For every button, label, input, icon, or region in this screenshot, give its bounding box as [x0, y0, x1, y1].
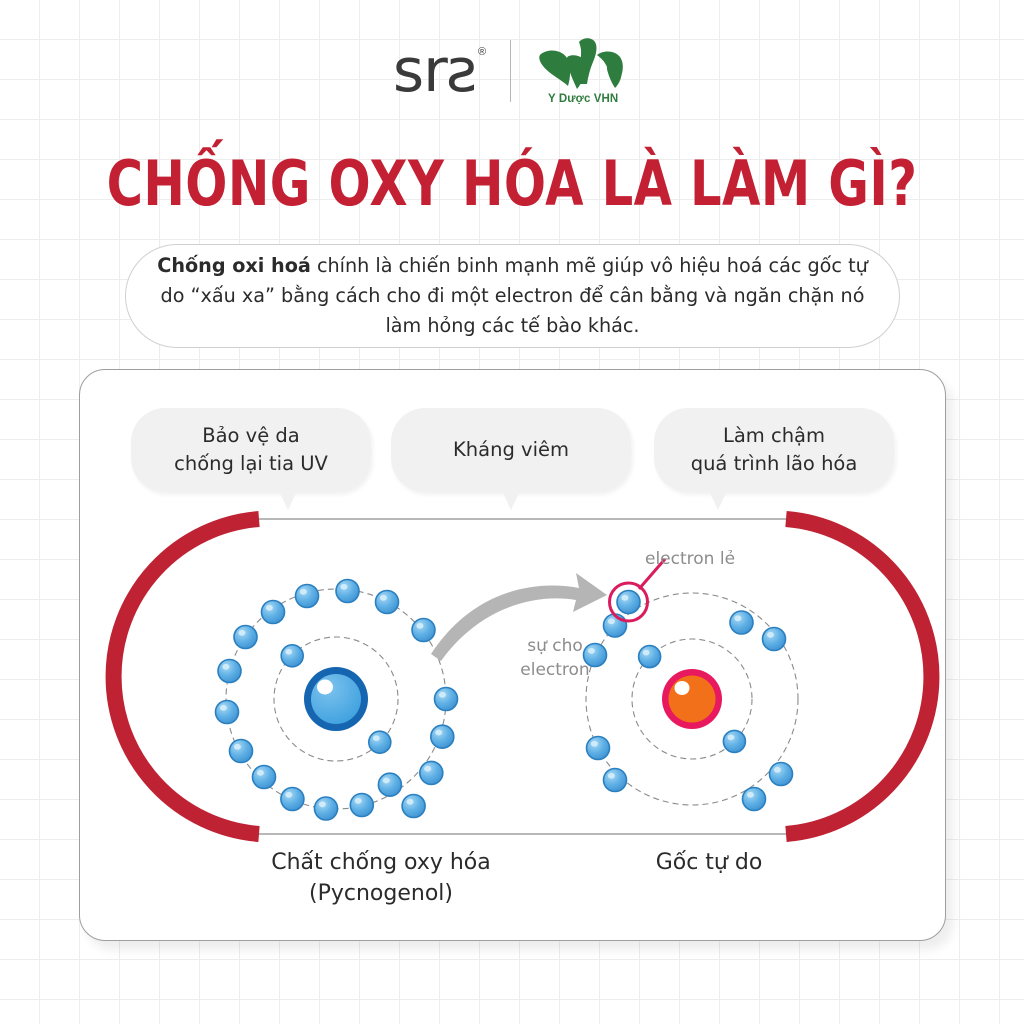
left-atom-icon	[216, 580, 458, 821]
left-atom-caption-line1: Chất chống oxy hóa	[231, 847, 531, 878]
srs-wordmark-icon: srs	[393, 40, 477, 102]
srs-wordmark-text: sr	[393, 36, 447, 106]
lone-electron-icon	[617, 591, 640, 614]
srs-logo: srs ®	[393, 40, 486, 102]
right-atom-caption-line1: Gốc tự do	[559, 847, 859, 878]
lone-electron-label: electron lẻ	[645, 547, 735, 571]
electron-donation-label: sự cho electron	[500, 634, 610, 682]
page-title: CHỐNG OXY HÓA LÀ LÀM GÌ?	[102, 147, 921, 220]
intro-description-box: Chống oxi hoá chính là chiến binh mạnh m…	[125, 244, 900, 348]
atom-diagram: electron lẻ sự cho electron Chất chống o…	[79, 369, 946, 941]
left-atom-caption: Chất chống oxy hóa (Pycnogenol)	[231, 847, 531, 909]
intro-lead-text: Chống oxi hoá	[157, 254, 311, 277]
logo-divider	[510, 40, 511, 102]
registered-mark-icon: ®	[478, 46, 486, 58]
vhn-logo: Y Dược VHN	[535, 36, 631, 105]
intro-description-text: Chống oxi hoá chính là chiến binh mạnh m…	[152, 251, 874, 341]
left-atom-caption-line2: (Pycnogenol)	[231, 878, 531, 909]
logo-row: srs ® Y Dược VHN	[0, 36, 1024, 105]
infographic-page: srs ® Y Dược VHN CHỐNG OXY HÓA LÀ LÀM GÌ…	[0, 0, 1024, 1024]
srs-wordmark-mirrored-s: s	[447, 40, 477, 102]
vhn-leaf-mark-icon	[535, 36, 631, 92]
vhn-logo-name: Y Dược VHN	[548, 93, 618, 105]
right-atom-caption: Gốc tự do	[559, 847, 859, 878]
electron-donation-line1: sự cho	[500, 634, 610, 658]
electron-donation-line2: electron	[500, 658, 610, 682]
right-atom-icon	[584, 559, 799, 811]
